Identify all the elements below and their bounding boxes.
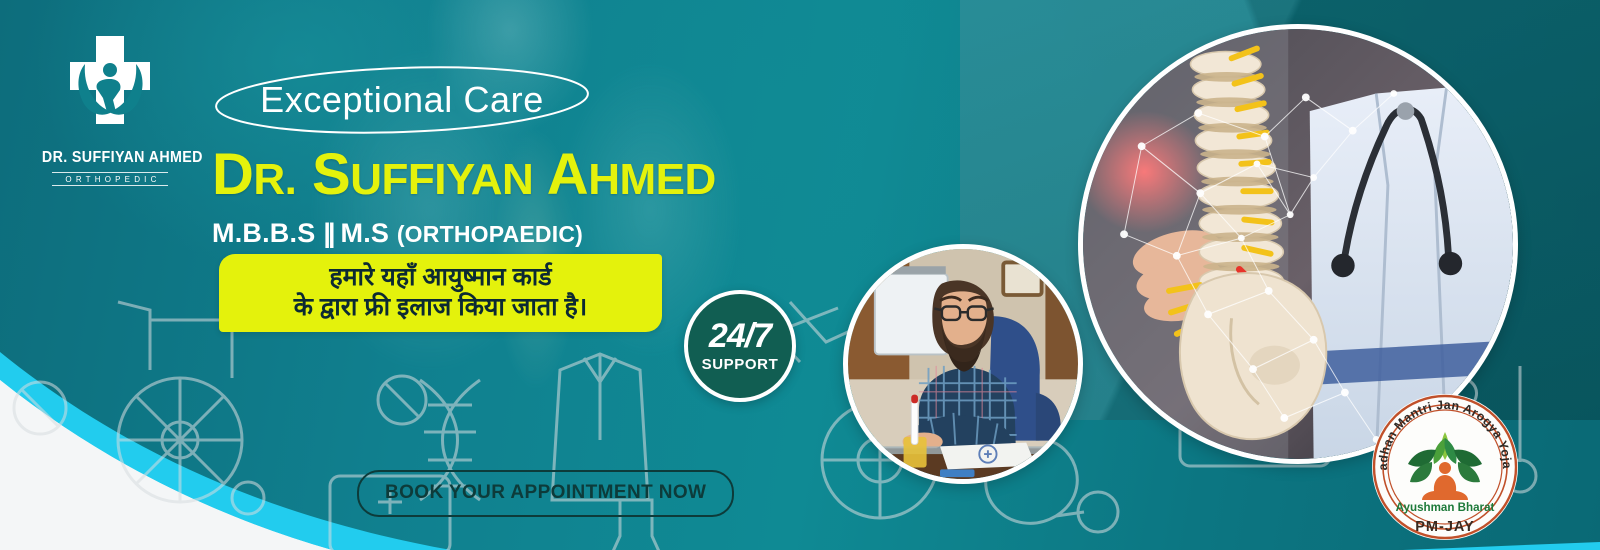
medical-cross-icon <box>36 34 184 138</box>
logo-name-text: DR. SUFFIYAN AHMED <box>42 149 178 167</box>
name-d: D <box>212 142 253 207</box>
support-hours: 24/7 <box>709 319 771 353</box>
clinic-promo-banner: DR. SUFFIYAN AHMED ORTHOPEDIC Exceptiona… <box>0 0 1600 550</box>
hindi-notice-line-1: हमारे यहाँ आयुष्मान कार्ड <box>329 262 551 293</box>
support-badge: 24/7 SUPPORT <box>684 290 796 402</box>
pmjay-seal: Pradhan Mantri Jan Arogya Yojana Ayushma… <box>1370 392 1520 542</box>
degree-specialty: (ORTHOPAEDIC) <box>397 221 583 247</box>
seal-scheme-name: Ayushman Bharat <box>1396 501 1495 514</box>
name-uffiyan: UFFIYAN <box>350 155 533 204</box>
degree-two: M.S <box>341 218 390 248</box>
hindi-notice-line-2: के द्वारा फ्री इलाज किया जाता है। <box>294 292 588 323</box>
eyebrow-text: Exceptional Care <box>212 60 592 140</box>
clinic-logo[interactable]: DR. SUFFIYAN AHMED ORTHOPEDIC <box>36 34 184 186</box>
degree-one: M.B.B.S <box>212 218 315 248</box>
qualifications-line: M.B.B.S||M.S (ORTHOPAEDIC) <box>212 218 852 249</box>
logo-specialty-text: ORTHOPEDIC <box>52 172 168 186</box>
name-a: A <box>547 142 588 207</box>
name-s: S <box>312 142 350 207</box>
doctor-name: DR. SUFFIYAN AHMED <box>212 146 852 204</box>
support-label: SUPPORT <box>702 356 779 373</box>
name-r: R. <box>253 155 296 204</box>
book-appointment-button[interactable]: BOOK YOUR APPOINTMENT NOW <box>357 470 734 517</box>
name-hmed: HMED <box>588 155 716 204</box>
ayushman-card-notice: हमारे यहाँ आयुष्मान कार्ड के द्वारा फ्री… <box>219 254 662 332</box>
doctor-portrait <box>848 249 1078 479</box>
degree-separator: || <box>315 218 340 248</box>
headline-block: Exceptional Care DR. SUFFIYAN AHMED M.B.… <box>212 60 852 249</box>
doctor-photo-circle <box>843 244 1083 484</box>
eyebrow-badge: Exceptional Care <box>212 60 592 140</box>
seal-abbreviation: PM-JAY <box>1415 519 1474 535</box>
